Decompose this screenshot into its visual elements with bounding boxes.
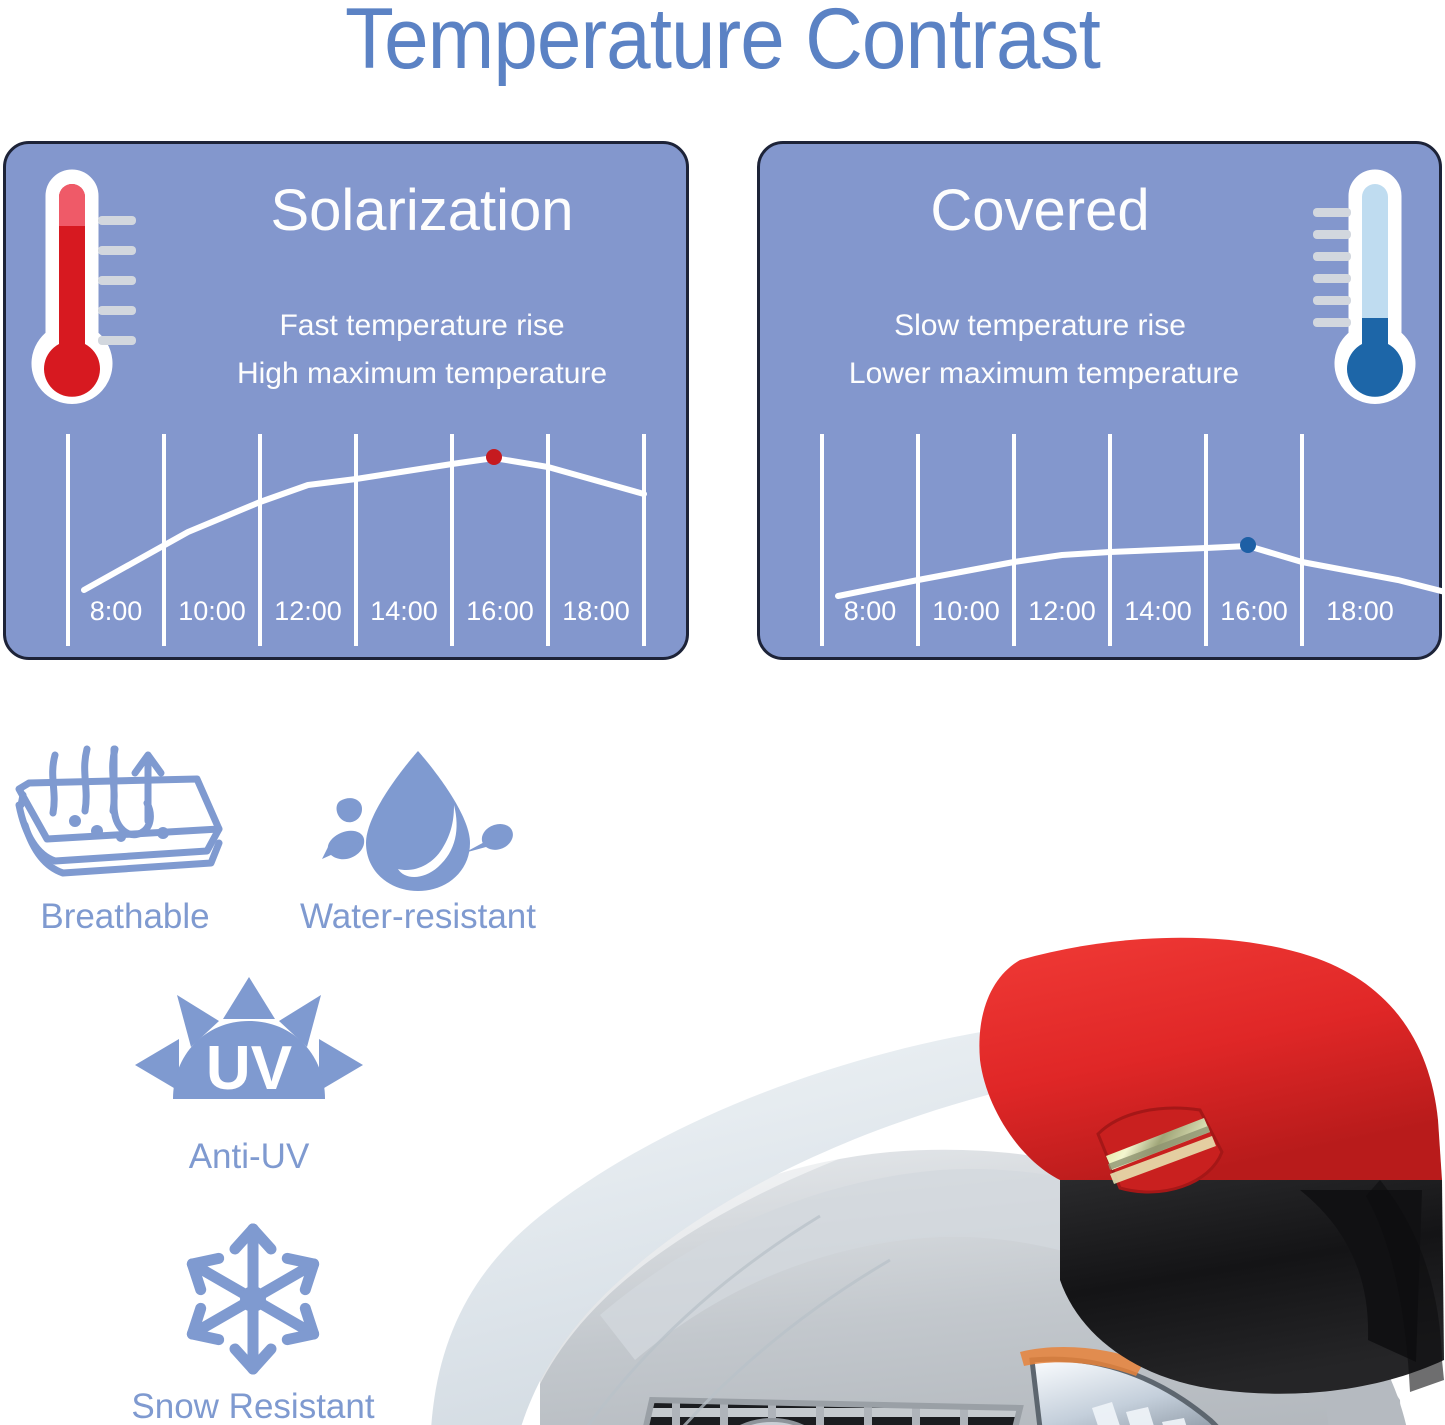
panel-title-solarization: Solarization bbox=[182, 177, 662, 244]
chart-solarization: 8:00 10:00 12:00 14:00 16:00 18:00 bbox=[6, 422, 686, 660]
panel-covered: Covered Slow temperature rise Lower maxi… bbox=[757, 141, 1442, 660]
x-tick-label: 10:00 bbox=[932, 596, 1000, 626]
x-tick-label: 8:00 bbox=[844, 596, 897, 626]
panel-subtitle-1-solarization: Fast temperature rise bbox=[182, 311, 662, 341]
thermometer-hot-icon bbox=[16, 168, 146, 428]
panel-title-covered: Covered bbox=[800, 177, 1280, 244]
water-drop-icon bbox=[318, 743, 518, 893]
feature-water-resistant: Water-resistant bbox=[268, 743, 568, 937]
uv-icon-text: UV bbox=[206, 1034, 292, 1103]
panel-subtitle-2-covered: Lower maximum temperature bbox=[788, 359, 1300, 389]
feature-icons: Breathable Water-resistant bbox=[0, 735, 600, 1425]
infographic-page: Temperature Contrast bbox=[0, 0, 1445, 1425]
x-tick-label: 14:00 bbox=[1124, 596, 1192, 626]
x-tick-label: 12:00 bbox=[274, 596, 342, 626]
feature-label-water-resistant: Water-resistant bbox=[268, 897, 568, 937]
feature-label-anti-uv: Anti-UV bbox=[104, 1137, 394, 1177]
panel-subtitle-2-solarization: High maximum temperature bbox=[166, 359, 678, 389]
feature-snow-resistant: Snow Resistant bbox=[108, 1215, 398, 1425]
chart-peak-marker-covered bbox=[1240, 537, 1256, 553]
x-tick-label: 12:00 bbox=[1028, 596, 1096, 626]
snowflake-icon bbox=[169, 1215, 337, 1383]
thermometer-cold-icon bbox=[1301, 168, 1431, 428]
feature-breathable: Breathable bbox=[0, 743, 254, 937]
feature-anti-uv: UV Anti-UV bbox=[104, 977, 394, 1177]
x-tick-label: 16:00 bbox=[1220, 596, 1288, 626]
comparison-panels: Solarization Fast temperature rise High … bbox=[0, 141, 1445, 661]
feature-label-breathable: Breathable bbox=[0, 897, 254, 937]
x-tick-label: 16:00 bbox=[466, 596, 534, 626]
page-title: Temperature Contrast bbox=[51, 0, 1395, 84]
x-tick-label: 14:00 bbox=[370, 596, 438, 626]
panel-subtitle-1-covered: Slow temperature rise bbox=[800, 311, 1280, 341]
x-tick-label: 10:00 bbox=[178, 596, 246, 626]
uv-sun-icon: UV bbox=[133, 977, 365, 1133]
breathable-fabric-icon bbox=[11, 743, 239, 893]
chart-peak-marker-solarization bbox=[486, 449, 502, 465]
chart-covered: 8:00 10:00 12:00 14:00 16:00 18:00 bbox=[760, 422, 1439, 660]
feature-label-snow-resistant: Snow Resistant bbox=[108, 1387, 398, 1425]
x-tick-label: 8:00 bbox=[90, 596, 143, 626]
x-tick-label: 18:00 bbox=[1326, 596, 1394, 626]
x-tick-label: 18:00 bbox=[562, 596, 630, 626]
panel-solarization: Solarization Fast temperature rise High … bbox=[3, 141, 689, 660]
